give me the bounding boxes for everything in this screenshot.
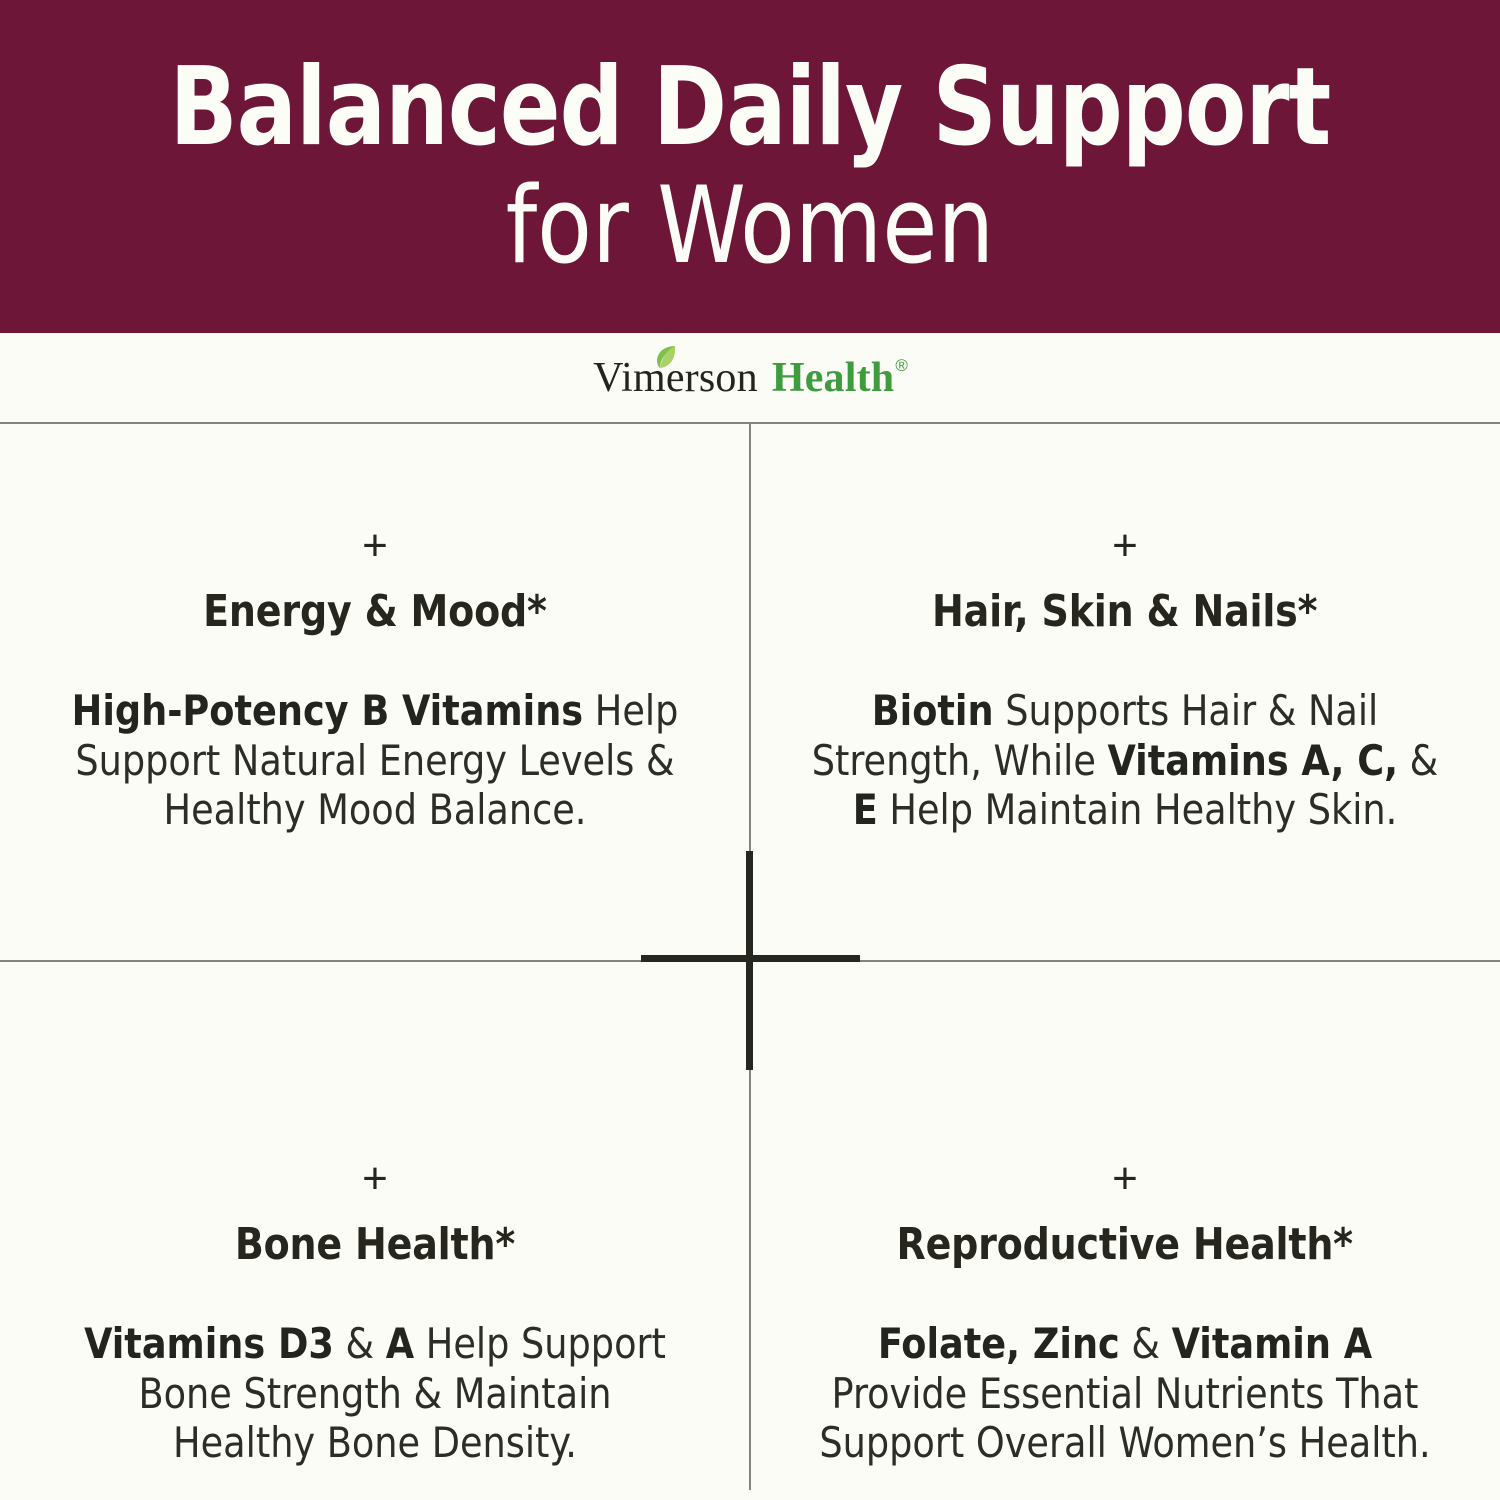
page-title-line-1: Balanced Daily Support bbox=[170, 53, 1331, 163]
benefit-title-bone-health: Bone Health* bbox=[235, 1221, 515, 1269]
brand-logo-row: Vimerson Health ® bbox=[0, 333, 1500, 423]
brand-name-secondary: Health bbox=[772, 357, 895, 399]
benefit-cell-reproductive-health: + Reproductive Health* Folate, Zinc & Vi… bbox=[750, 961, 1500, 1500]
registered-trademark-symbol: ® bbox=[895, 357, 908, 374]
benefit-cell-bone-health: + Bone Health* Vitamins D3 & A Help Supp… bbox=[0, 961, 750, 1500]
benefit-body-bone-health: Vitamins D3 & A Help Support Bone Streng… bbox=[62, 1319, 689, 1466]
center-cross-vertical bbox=[746, 851, 753, 1070]
header-banner: Balanced Daily Support for Women bbox=[0, 0, 1500, 333]
brand-logo: Vimerson Health ® bbox=[593, 357, 907, 399]
benefit-body-hair-skin-nails: Biotin Supports Hair & Nail Strength, Wh… bbox=[812, 686, 1439, 833]
product-infographic: Balanced Daily Support for Women Vimerso… bbox=[0, 0, 1500, 1500]
benefit-cell-energy-mood: + Energy & Mood* High-Potency B Vitamins… bbox=[0, 424, 750, 961]
plus-icon: + bbox=[362, 1157, 388, 1201]
plus-icon: + bbox=[362, 524, 388, 568]
benefit-body-energy-mood: High-Potency B Vitamins Help Support Nat… bbox=[62, 686, 689, 833]
brand-name-primary: Vimerson bbox=[593, 357, 758, 399]
plus-icon: + bbox=[1112, 1157, 1138, 1201]
plus-icon: + bbox=[1112, 524, 1138, 568]
benefit-title-reproductive-health: Reproductive Health* bbox=[897, 1221, 1353, 1269]
page-title-line-2: for Women bbox=[506, 167, 995, 286]
benefit-title-energy-mood: Energy & Mood* bbox=[203, 588, 547, 636]
benefit-body-reproductive-health: Folate, Zinc & Vitamin A Provide Essenti… bbox=[812, 1319, 1439, 1466]
benefit-cell-hair-skin-nails: + Hair, Skin & Nails* Biotin Supports Ha… bbox=[750, 424, 1500, 961]
benefit-title-hair-skin-nails: Hair, Skin & Nails* bbox=[932, 588, 1317, 636]
